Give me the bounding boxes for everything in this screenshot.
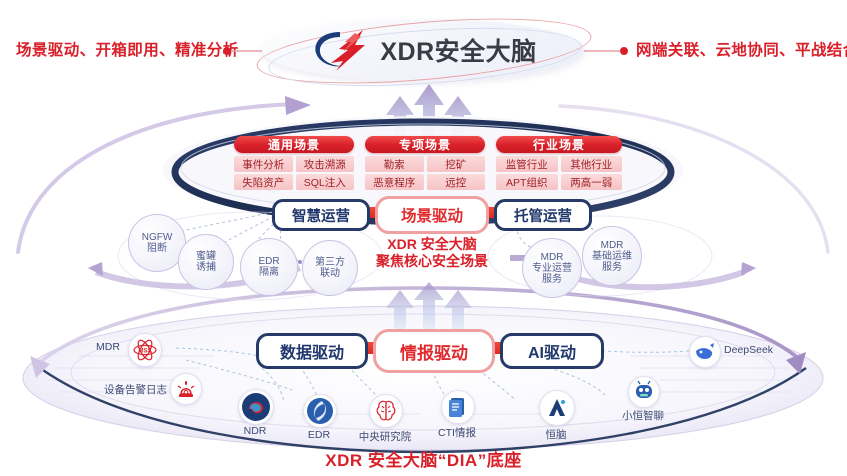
bubble-mdr-professional[interactable]: MDR专业运营服务 xyxy=(522,238,582,298)
hengnao-icon[interactable] xyxy=(539,390,575,426)
scenario-group-title: 专项场景 xyxy=(365,136,485,153)
logo-text: XDR安全大脑 xyxy=(380,32,536,68)
scenario-group-title: 通用场景 xyxy=(234,136,354,153)
center-caption-line2: 聚焦核心安全场景 xyxy=(352,253,512,270)
bubble-label: MDR基础运维服务 xyxy=(592,240,632,273)
tech-label-ndr: NDR xyxy=(238,425,272,437)
bottom-caption: XDR 安全大脑“DIA”底座 xyxy=(0,446,847,471)
diagram-canvas: 场景驱动、开箱即用、精准分析 网端关联、云地协同、平战结合 XDR安全大脑 通用… xyxy=(0,0,847,476)
scenario-row: 事件分析 攻击溯源 xyxy=(234,156,354,172)
tagline-left: 场景驱动、开箱即用、精准分析 xyxy=(16,38,239,60)
tech-label-edr: EDR xyxy=(303,429,335,441)
chip-intelligent-operations[interactable]: 智慧运营 xyxy=(272,199,370,231)
bubble-mdr-basic[interactable]: MDR基础运维服务 xyxy=(582,226,642,286)
tech-label-mdr: MDR xyxy=(96,341,120,353)
scenario-cell[interactable]: 恶意程序 xyxy=(365,174,424,190)
scenario-row: 失陷资产 SQL注入 xyxy=(234,174,354,190)
scenario-group-special: 专项场景 勒索 挖矿 恶意程序 远控 xyxy=(365,136,485,190)
tagline-right: 网端关联、云地协同、平战结合 xyxy=(636,38,847,60)
tech-label-xiaoheng: 小恒智聊 xyxy=(614,408,672,423)
center-caption-line1: XDR 安全大脑 xyxy=(352,236,512,253)
chip-data-driven[interactable]: 数据驱动 xyxy=(256,333,368,369)
bubble-honeypot[interactable]: 蜜罐诱捕 xyxy=(178,234,234,290)
scenario-cell[interactable]: 事件分析 xyxy=(234,156,293,172)
center-caption: XDR 安全大脑 聚焦核心安全场景 xyxy=(352,236,512,270)
scenario-row: APT组织 两高一弱 xyxy=(496,174,622,190)
scenario-cell[interactable]: 监管行业 xyxy=(496,156,558,172)
scenario-cell[interactable]: 攻击溯源 xyxy=(296,156,355,172)
bubble-third-party[interactable]: 第三方联动 xyxy=(302,240,358,296)
scenario-row: 恶意程序 远控 xyxy=(365,174,485,190)
bubble-edr-isolation[interactable]: EDR隔离 xyxy=(240,238,298,296)
scenario-cell[interactable]: 远控 xyxy=(427,174,486,190)
scenario-group-industry: 行业场景 监管行业 其他行业 APT组织 两高一弱 xyxy=(496,136,622,190)
tagline-right-connector xyxy=(580,44,630,58)
chip-managed-operations[interactable]: 托管运营 xyxy=(494,199,592,231)
edr-bolt-icon[interactable] xyxy=(303,394,337,428)
scenario-row: 监管行业 其他行业 xyxy=(496,156,622,172)
scenario-cell[interactable]: 挖矿 xyxy=(427,156,486,172)
mss-atom-icon[interactable]: MSS xyxy=(128,333,162,367)
scenario-group-general: 通用场景 事件分析 攻击溯源 失陷资产 SQL注入 xyxy=(234,136,354,190)
whale-icon[interactable] xyxy=(689,336,721,368)
alarm-light-icon[interactable] xyxy=(170,373,202,405)
chip-scenario-driven[interactable]: 场景驱动 xyxy=(375,196,489,234)
scenario-group-title: 行业场景 xyxy=(496,136,622,153)
scenario-cell[interactable]: 两高一弱 xyxy=(561,174,623,190)
brain-icon[interactable] xyxy=(369,394,403,428)
chatbot-icon[interactable] xyxy=(628,376,660,408)
ndr-wave-icon[interactable] xyxy=(238,389,274,425)
tech-label-device-alarm-log: 设备告警日志 xyxy=(104,382,167,397)
bubble-label: MDR专业运营服务 xyxy=(532,252,572,285)
tech-label-hengnao: 恒脑 xyxy=(538,427,574,442)
tech-label-deepseek: DeepSeek xyxy=(724,344,773,356)
tech-label-central-research: 中央研究院 xyxy=(357,429,413,444)
scenario-cell[interactable]: 失陷资产 xyxy=(234,174,293,190)
bubble-label: 第三方联动 xyxy=(315,257,345,279)
scenario-cell[interactable]: SQL注入 xyxy=(296,174,355,190)
logo: XDR安全大脑 xyxy=(262,19,584,81)
bubble-label: NGFW阻断 xyxy=(142,232,173,254)
scenario-row: 勒索 挖矿 xyxy=(365,156,485,172)
bubble-label: 蜜罐诱捕 xyxy=(196,251,216,273)
chip-intelligence-driven[interactable]: 情报驱动 xyxy=(373,329,495,373)
tech-label-cti: CTI情报 xyxy=(430,425,484,440)
bubble-label: EDR隔离 xyxy=(258,256,279,278)
chip-ai-driven[interactable]: AI驱动 xyxy=(500,333,604,369)
svg-text:MSS: MSS xyxy=(138,349,151,355)
scenario-cell[interactable]: 其他行业 xyxy=(561,156,623,172)
xdr-swoosh-icon xyxy=(309,27,371,73)
document-icon[interactable] xyxy=(441,390,475,424)
scenario-cell[interactable]: 勒索 xyxy=(365,156,424,172)
scenario-cell[interactable]: APT组织 xyxy=(496,174,558,190)
